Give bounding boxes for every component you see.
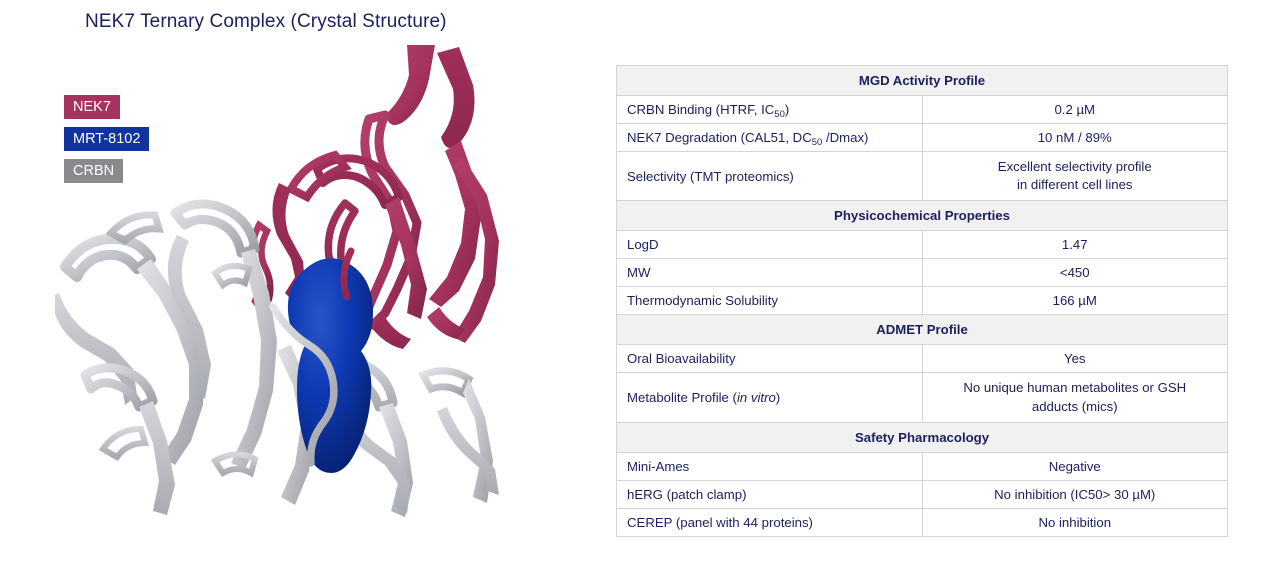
legend-badge-mrt-8102: MRT-8102 xyxy=(64,127,149,151)
param-label-herg: hERG (patch clamp) xyxy=(617,480,923,508)
table-body: MGD Activity Profile CRBN Binding (HTRF,… xyxy=(617,66,1228,537)
param-label-crbn-binding: CRBN Binding (HTRF, IC50) xyxy=(617,96,923,124)
table-row: Thermodynamic Solubility 166 µM xyxy=(617,287,1228,315)
table-row: MW <450 xyxy=(617,259,1228,287)
param-value-oral-bioavailability: Yes xyxy=(922,345,1228,373)
label-subscript: 50 xyxy=(812,137,823,148)
param-label-mini-ames: Mini-Ames xyxy=(617,452,923,480)
legend-badge-nek7: NEK7 xyxy=(64,95,120,119)
legend-badge-crbn: CRBN xyxy=(64,159,123,183)
label-text-post: ) xyxy=(776,390,780,405)
label-text-post: ) xyxy=(785,102,789,117)
section-header-mgd-activity-profile: MGD Activity Profile xyxy=(617,66,1228,96)
param-value-nek7-degradation: 10 nM / 89% xyxy=(922,124,1228,152)
structure-figure-panel: NEK7 Ternary Complex (Crystal Structure) xyxy=(0,0,560,577)
value-line-1: Excellent selectivity profile xyxy=(933,158,1218,176)
crbn-ribbon-group xyxy=(55,204,499,517)
label-italic: in vitro xyxy=(737,390,776,405)
section-header-admet-profile: ADMET Profile xyxy=(617,315,1228,345)
param-value-logd: 1.47 xyxy=(922,231,1228,259)
param-label-logd: LogD xyxy=(617,231,923,259)
compound-properties-table-container: MGD Activity Profile CRBN Binding (HTRF,… xyxy=(616,65,1228,537)
table-row: CRBN Binding (HTRF, IC50) 0.2 µM xyxy=(617,96,1228,124)
table-row: CEREP (panel with 44 proteins) No inhibi… xyxy=(617,508,1228,536)
table-row: Metabolite Profile (in vitro) No unique … xyxy=(617,373,1228,422)
param-label-oral-bioavailability: Oral Bioavailability xyxy=(617,345,923,373)
label-subscript: 50 xyxy=(774,109,785,120)
label-text-post: /Dmax) xyxy=(822,130,868,145)
param-label-selectivity: Selectivity (TMT proteomics) xyxy=(617,152,923,201)
param-label-metabolite-profile: Metabolite Profile (in vitro) xyxy=(617,373,923,422)
table-row: Selectivity (TMT proteomics) Excellent s… xyxy=(617,152,1228,201)
table-row: NEK7 Degradation (CAL51, DC50 /Dmax) 10 … xyxy=(617,124,1228,152)
label-text: CRBN Binding (HTRF, IC xyxy=(627,102,774,117)
section-header-row: Safety Pharmacology xyxy=(617,422,1228,452)
table-row: LogD 1.47 xyxy=(617,231,1228,259)
param-value-mini-ames: Negative xyxy=(922,452,1228,480)
param-label-thermodynamic-solubility: Thermodynamic Solubility xyxy=(617,287,923,315)
param-value-metabolite-profile: No unique human metabolites or GSH adduc… xyxy=(922,373,1228,422)
table-row: Mini-Ames Negative xyxy=(617,452,1228,480)
section-header-row: Physicochemical Properties xyxy=(617,201,1228,231)
value-line-2: in different cell lines xyxy=(933,176,1218,194)
table-row: Oral Bioavailability Yes xyxy=(617,345,1228,373)
param-value-thermodynamic-solubility: 166 µM xyxy=(922,287,1228,315)
page-title: NEK7 Ternary Complex (Crystal Structure) xyxy=(85,11,447,33)
structure-legend: NEK7 MRT-8102 CRBN xyxy=(64,95,149,191)
section-header-physicochemical-properties: Physicochemical Properties xyxy=(617,201,1228,231)
param-label-nek7-degradation: NEK7 Degradation (CAL51, DC50 /Dmax) xyxy=(617,124,923,152)
compound-properties-table: MGD Activity Profile CRBN Binding (HTRF,… xyxy=(616,65,1228,537)
param-value-cerep: No inhibition xyxy=(922,508,1228,536)
label-text: Metabolite Profile ( xyxy=(627,390,737,405)
value-line-2: adducts (mics) xyxy=(933,398,1218,416)
param-value-mw: <450 xyxy=(922,259,1228,287)
section-header-row: ADMET Profile xyxy=(617,315,1228,345)
param-value-selectivity: Excellent selectivity profile in differe… xyxy=(922,152,1228,201)
section-header-safety-pharmacology: Safety Pharmacology xyxy=(617,422,1228,452)
value-line-1: No unique human metabolites or GSH xyxy=(933,379,1218,397)
param-label-mw: MW xyxy=(617,259,923,287)
section-header-row: MGD Activity Profile xyxy=(617,66,1228,96)
table-row: hERG (patch clamp) No inhibition (IC50> … xyxy=(617,480,1228,508)
param-value-crbn-binding: 0.2 µM xyxy=(922,96,1228,124)
label-text: NEK7 Degradation (CAL51, DC xyxy=(627,130,812,145)
param-label-cerep: CEREP (panel with 44 proteins) xyxy=(617,508,923,536)
param-value-herg: No inhibition (IC50> 30 µM) xyxy=(922,480,1228,508)
